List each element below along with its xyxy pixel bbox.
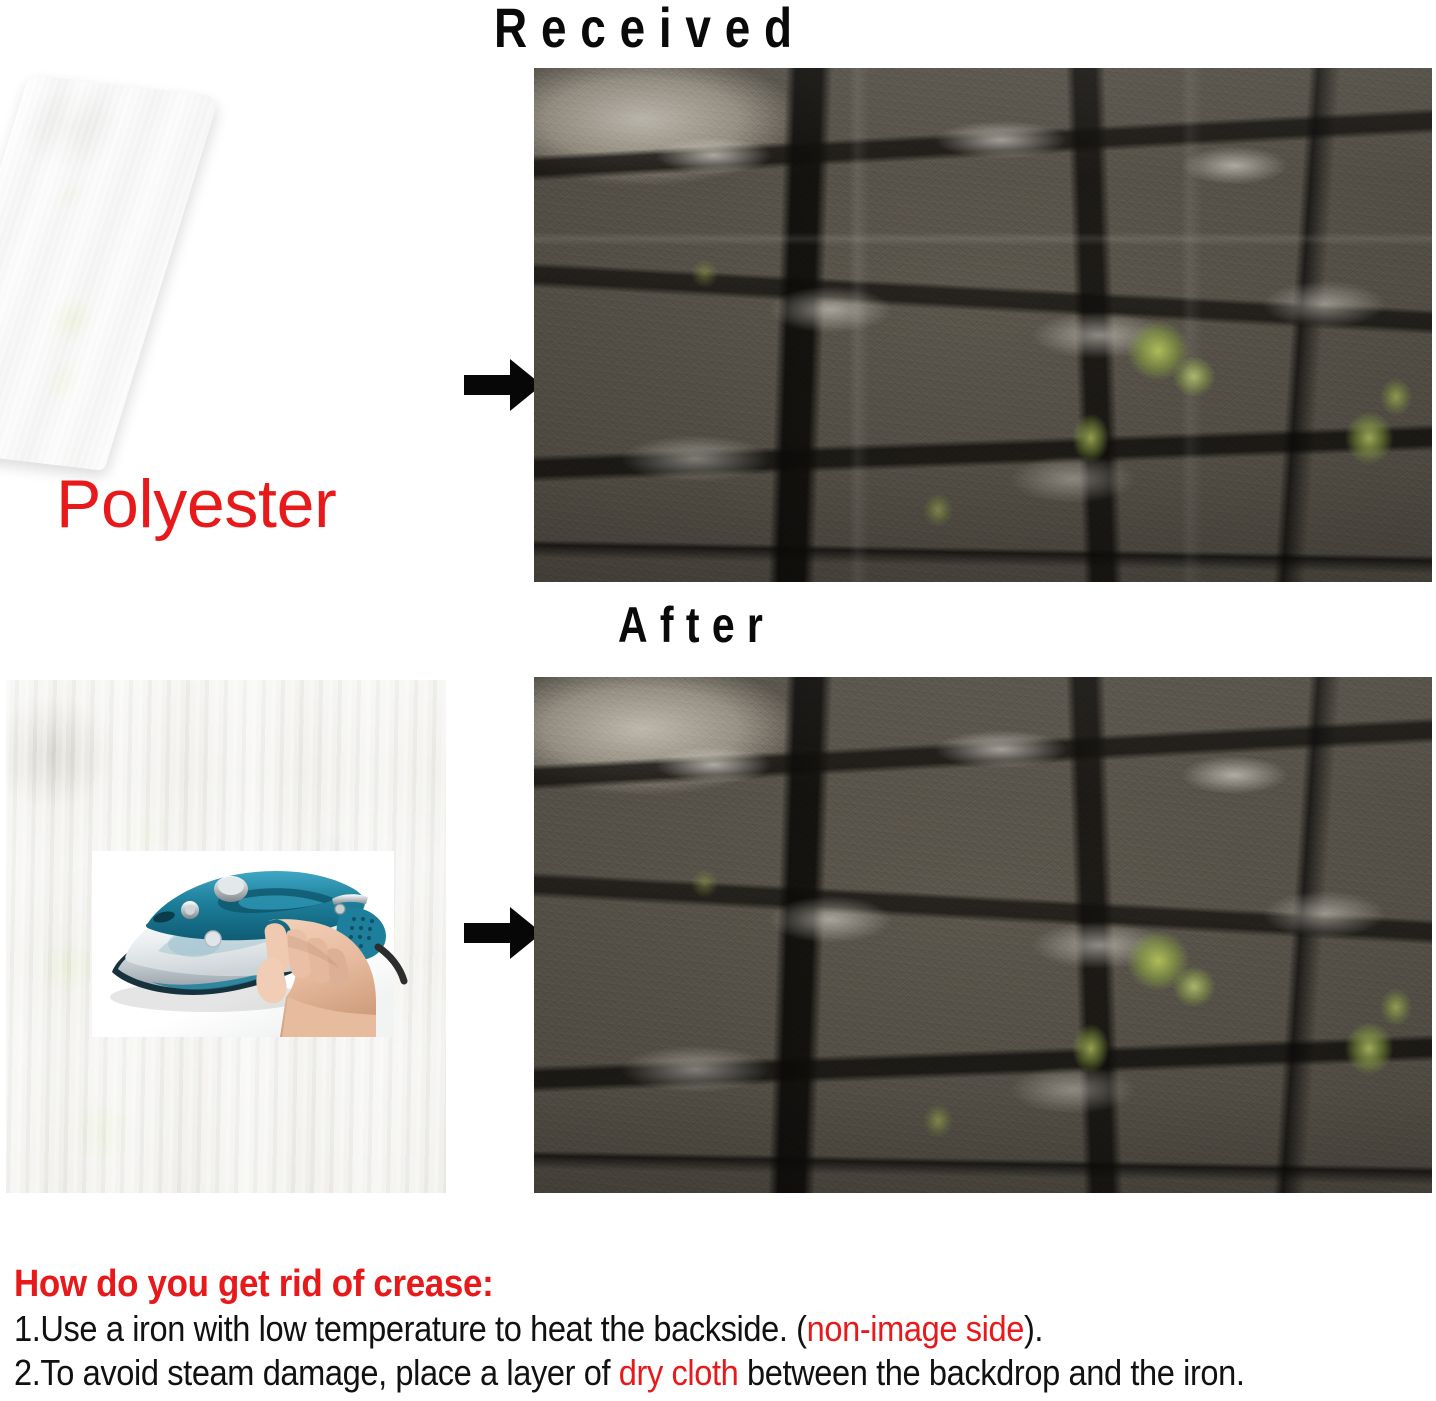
- photo-tone-vignette: [534, 677, 1432, 1193]
- fabric-faded-overlay: [0, 75, 219, 471]
- received-heading: Received: [494, 0, 806, 58]
- instruction-2-prefix: 2.To avoid steam damage, place a layer o…: [14, 1352, 619, 1393]
- after-backdrop-photo: [534, 677, 1432, 1193]
- instruction-line-2: 2.To avoid steam damage, place a layer o…: [14, 1352, 1290, 1394]
- iron-body-button: [205, 931, 221, 947]
- instruction-2-highlight: dry cloth: [619, 1352, 739, 1393]
- care-instructions: How do you get rid of crease: 1.Use a ir…: [14, 1262, 1424, 1394]
- instruction-line-1: 1.Use a iron with low temperature to hea…: [14, 1308, 1290, 1350]
- instruction-1-highlight: non-image side: [807, 1308, 1024, 1349]
- polyester-label: Polyester: [56, 466, 336, 542]
- infographic-page: Received Polyester After: [0, 0, 1436, 1401]
- instructions-heading: How do you get rid of crease:: [14, 1262, 1311, 1306]
- instruction-1-prefix: 1.Use a iron with low temperature to hea…: [14, 1308, 807, 1349]
- iron-bracket-pin: [335, 904, 345, 914]
- folded-polyester-fabric: [0, 75, 219, 471]
- instruction-1-suffix: ).: [1024, 1308, 1043, 1349]
- arrow-right-icon: [462, 900, 544, 966]
- photo-tone-vignette: [534, 68, 1432, 582]
- iron-demo-card: [92, 851, 394, 1037]
- after-heading: After: [618, 598, 775, 652]
- arrow-right-icon: [462, 352, 544, 418]
- instruction-2-suffix: between the backdrop and the iron.: [738, 1352, 1244, 1393]
- received-backdrop-photo: [534, 68, 1432, 582]
